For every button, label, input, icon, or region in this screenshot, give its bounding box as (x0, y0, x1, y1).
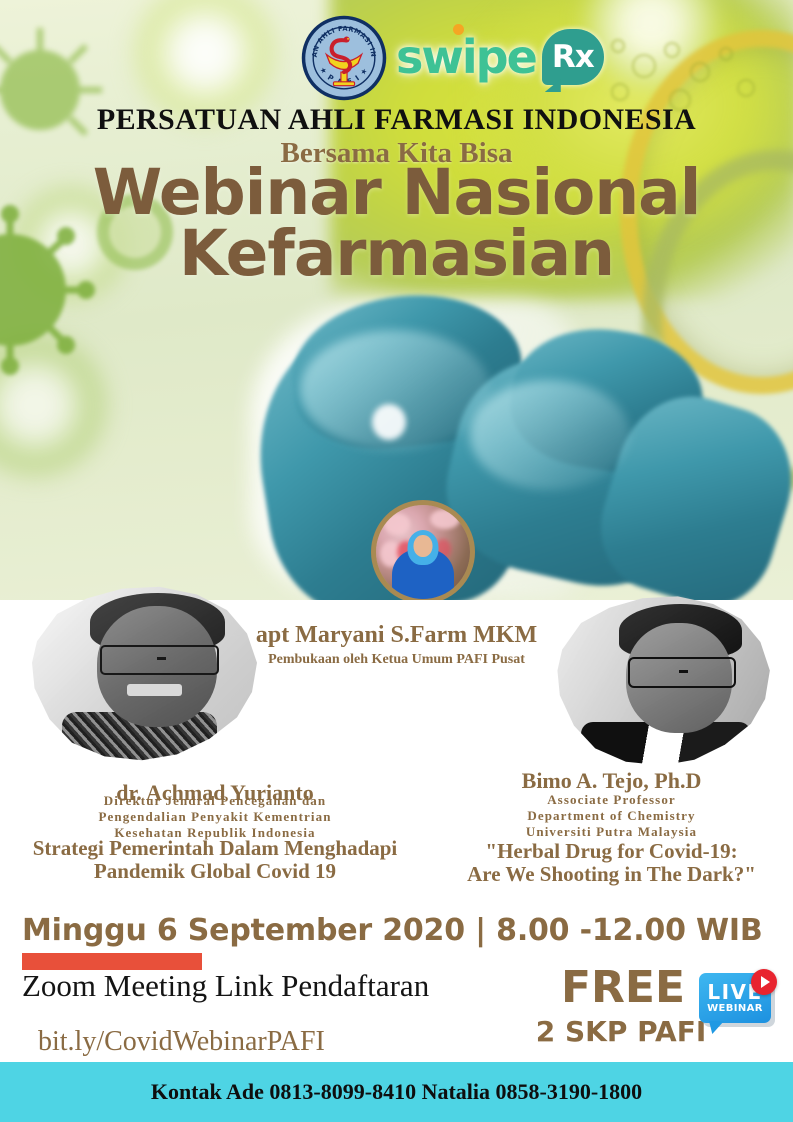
swipe-wordmark: swipe (396, 34, 536, 80)
rx-bubble-icon: Rx (542, 29, 604, 85)
speaker-photo-left (22, 575, 272, 770)
chair-photo (376, 505, 470, 599)
chair-avatar-ring (371, 500, 475, 604)
speaker-right-name: Bimo A. Tejo, Ph.D (430, 768, 793, 794)
glove-highlight (470, 380, 630, 490)
speaker-moustache (127, 684, 182, 696)
title-line-2: Kefarmasian (0, 223, 793, 284)
chair-avatar (371, 500, 475, 604)
speaker-right-topic: "Herbal Drug for Covid-19: Are We Shooti… (430, 840, 793, 886)
pafi-logo-icon: PERSATUAN AHLI FARMASI INDONESIA ★ P A F… (300, 14, 388, 102)
blossom-shape (384, 513, 410, 535)
play-button-icon (751, 969, 777, 995)
logo-row: PERSATUAN AHLI FARMASI INDONESIA ★ P A F… (0, 6, 793, 98)
glove-specular (372, 404, 406, 440)
event-datetime: Minggu 6 September 2020 | 8.00 -12.00 WI… (22, 913, 763, 948)
eyeglasses-icon (628, 657, 736, 688)
chair-face (414, 535, 433, 557)
live-webinar-badge: LIVE WEBINAR (697, 969, 779, 1039)
contact-footer: Kontak Ade 0813-8099-8410 Natalia 0858-3… (0, 1062, 793, 1122)
free-badge: FREE (548, 966, 698, 1010)
swipe-dot-icon (453, 24, 464, 35)
contact-text: Kontak Ade 0813-8099-8410 Natalia 0858-3… (151, 1079, 642, 1105)
platform-registration-label: Zoom Meeting Link Pendaftaran (22, 968, 429, 1004)
swiperx-logo: swipe Rx (396, 26, 604, 88)
registration-link[interactable]: bit.ly/CovidWebinarPAFI (38, 1026, 325, 1058)
organization-title: PERSATUAN AHLI FARMASI INDONESIA (0, 103, 793, 137)
blossom-shape (430, 509, 460, 529)
skp-badge: 2 SKP PAFI (526, 1018, 716, 1046)
brush-mask (548, 585, 784, 775)
page-title: Webinar Nasional Kefarmasian (0, 162, 793, 284)
eyeglasses-icon (100, 645, 219, 674)
webinar-label: WEBINAR (707, 1004, 763, 1014)
speaker-left-affiliation: Direktur Jendral Pencegahan dan Pengenda… (0, 793, 430, 841)
webinar-poster: PERSATUAN AHLI FARMASI INDONESIA ★ P A F… (0, 0, 793, 1122)
brush-mask (22, 575, 272, 770)
speaker-right-affiliation: Associate Professor Department of Chemis… (430, 792, 793, 840)
rx-label: Rx (552, 42, 594, 73)
speaker-photo-right (548, 585, 784, 775)
speaker-left-topic: Strategi Pemerintah Dalam Menghadapi Pan… (0, 837, 430, 883)
